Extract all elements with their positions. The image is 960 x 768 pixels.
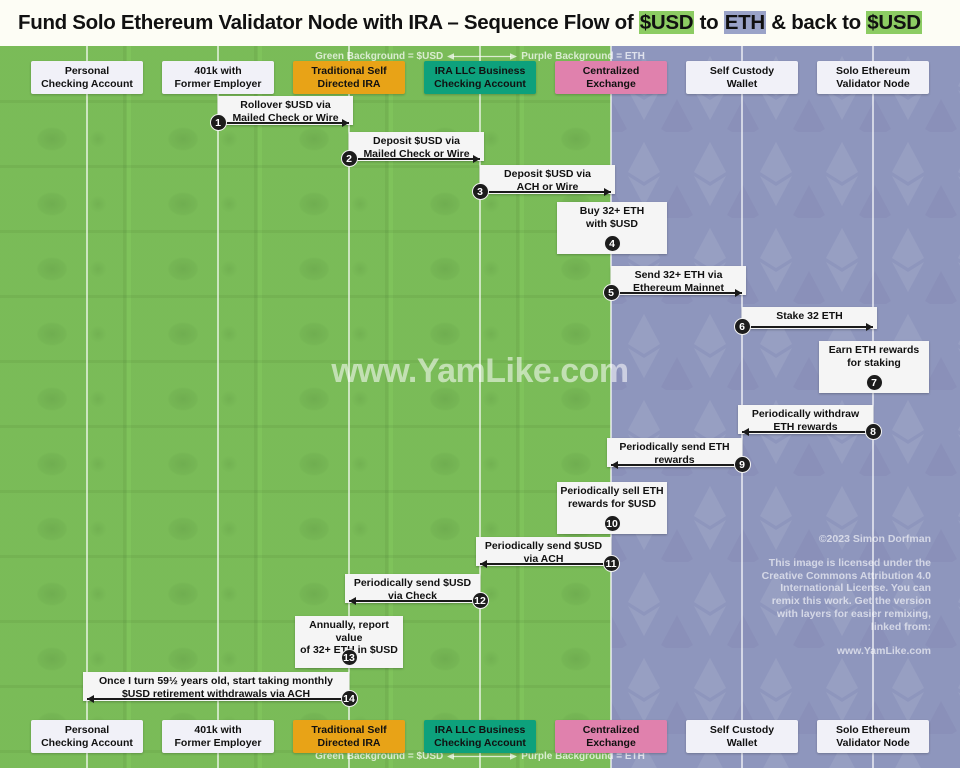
step-number-badge-10: 10: [604, 515, 621, 532]
arrow-head-3: [604, 188, 611, 196]
actor-label-line2: Directed IRA: [317, 78, 380, 90]
actor-401k-former-employer[interactable]: 401k withFormer Employer: [162, 720, 274, 753]
sequence-diagram-canvas: www.YamLike.com Green Background = $USD …: [0, 46, 960, 768]
arrow-line-14: [87, 698, 349, 700]
message-label-line1: Periodically send ETH: [607, 441, 742, 454]
message-label-line1: Annually, report value: [295, 619, 403, 644]
message-label-line1: Once I turn 59½ years old, start taking …: [83, 675, 349, 688]
step-number-badge-5: 5: [603, 284, 620, 301]
page-title: Fund Solo Ethereum Validator Node with I…: [0, 0, 960, 46]
actor-label-line1: 401k with: [194, 65, 241, 77]
actor-solo-ethereum-validator-node[interactable]: Solo EthereumValidator Node: [817, 61, 929, 94]
actor-self-custody-wallet[interactable]: Self CustodyWallet: [686, 61, 798, 94]
actor-label-line1: Self Custody: [710, 65, 774, 77]
legend-green-label-top: Green Background = $USD: [315, 51, 443, 62]
message-label-line1: Periodically send $USD: [476, 540, 611, 553]
actor-ira-llc-business-checking[interactable]: IRA LLC BusinessChecking Account: [424, 720, 536, 753]
actor-label-line1: Personal: [65, 65, 109, 77]
arrow-head-12: [349, 597, 356, 605]
copyright-text: ©2023 Simon Dorfman: [753, 533, 931, 546]
lifeline-centralized-exchange: [610, 46, 612, 768]
message-label-10: Periodically sell ETHrewards for $USD: [557, 485, 667, 510]
arrow-line-9: [611, 464, 742, 466]
actor-label-line2: Exchange: [586, 78, 636, 90]
arrow-head-8: [742, 428, 749, 436]
actor-label-line2: Checking Account: [434, 78, 526, 90]
message-label-line1: Periodically withdraw: [738, 408, 873, 421]
message-label-12: Periodically send $USDvia Check: [345, 577, 480, 602]
message-label-line2: for staking: [819, 357, 929, 370]
message-label-1: Rollover $USD viaMailed Check or Wire: [218, 99, 353, 124]
step-number-badge-12: 12: [472, 592, 489, 609]
actor-label-line2: Validator Node: [836, 78, 910, 90]
actor-label-line1: 401k with: [194, 724, 241, 736]
arrow-head-5: [735, 289, 742, 297]
actor-label-line1: Centralized: [583, 724, 640, 736]
actor-traditional-self-directed-ira[interactable]: Traditional SelfDirected IRA: [293, 61, 405, 94]
legend-purple-label-top: Purple Background = ETH: [521, 51, 645, 62]
title-mid-2: & back to: [766, 11, 866, 34]
actor-solo-ethereum-validator-node[interactable]: Solo EthereumValidator Node: [817, 720, 929, 753]
actor-ira-llc-business-checking[interactable]: IRA LLC BusinessChecking Account: [424, 61, 536, 94]
actor-label-line1: Traditional Self: [311, 65, 386, 77]
actor-personal-checking-account[interactable]: PersonalChecking Account: [31, 720, 143, 753]
message-label-11: Periodically send $USDvia ACH: [476, 540, 611, 565]
actor-self-custody-wallet[interactable]: Self CustodyWallet: [686, 720, 798, 753]
step-number-badge-7: 7: [866, 374, 883, 391]
arrow-line-6: [742, 326, 873, 328]
lifeline-personal-checking-account: [86, 46, 88, 768]
arrow-head-2: [473, 155, 480, 163]
credits-block: ©2023 Simon Dorfman This image is licens…: [753, 533, 931, 657]
actor-label-line2: Former Employer: [175, 737, 262, 749]
arrow-head-6: [866, 323, 873, 331]
actor-label-line2: Wallet: [727, 78, 758, 90]
arrow-line-12: [349, 600, 480, 602]
step-number-badge-2: 2: [341, 150, 358, 167]
title-usd-1: $USD: [639, 11, 694, 34]
actor-label-line1: IRA LLC Business: [435, 65, 526, 77]
message-label-2: Deposit $USD viaMailed Check or Wire: [349, 135, 484, 160]
arrow-head-1: [342, 119, 349, 127]
step-number-badge-6: 6: [734, 318, 751, 335]
arrow-line-8: [742, 431, 873, 433]
message-label-7: Earn ETH rewardsfor staking: [819, 344, 929, 369]
step-number-badge-11: 11: [603, 555, 620, 572]
step-number-badge-9: 9: [734, 456, 751, 473]
message-label-line1: Send 32+ ETH via: [611, 269, 746, 282]
actor-label-line1: Traditional Self: [311, 724, 386, 736]
message-label-line1: Periodically sell ETH: [557, 485, 667, 498]
arrow-line-2: [349, 158, 480, 160]
arrow-line-1: [218, 122, 349, 124]
actor-label-line1: Self Custody: [710, 724, 774, 736]
actor-label-line2: Checking Account: [434, 737, 526, 749]
actor-label-line1: Solo Ethereum: [836, 724, 910, 736]
message-label-14: Once I turn 59½ years old, start taking …: [83, 675, 349, 700]
credits-website[interactable]: www.YamLike.com: [753, 645, 931, 658]
message-label-line1: Deposit $USD via: [349, 135, 484, 148]
message-label-6: Stake 32 ETH: [742, 310, 877, 323]
actor-label-line2: Validator Node: [836, 737, 910, 749]
title-eth: ETH: [724, 11, 766, 34]
title-mid: to: [694, 11, 724, 34]
actor-personal-checking-account[interactable]: PersonalChecking Account: [31, 61, 143, 94]
actor-label-line1: Personal: [65, 724, 109, 736]
title-usd-2: $USD: [866, 11, 921, 34]
message-label-8: Periodically withdrawETH rewards: [738, 408, 873, 433]
license-text: This image is licensed under the Creativ…: [753, 557, 931, 634]
message-label-9: Periodically send ETHrewards: [607, 441, 742, 466]
message-label-line1: Rollover $USD via: [218, 99, 353, 112]
step-number-badge-1: 1: [210, 114, 227, 131]
actor-label-line2: Directed IRA: [317, 737, 380, 749]
message-label-line1: Buy 32+ ETH: [557, 205, 667, 218]
step-number-badge-4: 4: [604, 235, 621, 252]
message-label-3: Deposit $USD viaACH or Wire: [480, 168, 615, 193]
step-number-badge-3: 3: [472, 183, 489, 200]
message-label-5: Send 32+ ETH viaEthereum Mainnet: [611, 269, 746, 294]
actor-label-line1: IRA LLC Business: [435, 724, 526, 736]
legend-double-arrow-top: [447, 52, 517, 61]
arrow-head-11: [480, 560, 487, 568]
actor-centralized-exchange[interactable]: CentralizedExchange: [555, 61, 667, 94]
message-label-line1: Deposit $USD via: [480, 168, 615, 181]
actor-label-line1: Solo Ethereum: [836, 65, 910, 77]
diagram-root: Fund Solo Ethereum Validator Node with I…: [0, 0, 960, 768]
message-label-line2: rewards for $USD: [557, 498, 667, 511]
actor-401k-former-employer[interactable]: 401k withFormer Employer: [162, 61, 274, 94]
message-label-line1: Stake 32 ETH: [742, 310, 877, 323]
message-label-line1: Earn ETH rewards: [819, 344, 929, 357]
arrow-line-11: [480, 563, 611, 565]
actor-label-line2: Checking Account: [41, 737, 133, 749]
actor-label-line2: Checking Account: [41, 78, 133, 90]
arrow-head-14: [87, 695, 94, 703]
actor-label-line2: Former Employer: [175, 78, 262, 90]
actor-traditional-self-directed-ira[interactable]: Traditional SelfDirected IRA: [293, 720, 405, 753]
step-number-badge-14: 14: [341, 690, 358, 707]
step-number-badge-8: 8: [865, 423, 882, 440]
actor-centralized-exchange[interactable]: CentralizedExchange: [555, 720, 667, 753]
actor-label-line1: Centralized: [583, 65, 640, 77]
lifeline-401k-former-employer: [217, 46, 219, 768]
message-label-line2: with $USD: [557, 218, 667, 231]
actor-label-line2: Wallet: [727, 737, 758, 749]
arrow-line-3: [480, 191, 611, 193]
arrow-head-9: [611, 461, 618, 469]
actor-label-line2: Exchange: [586, 737, 636, 749]
title-pre: Fund Solo Ethereum Validator Node with I…: [18, 11, 639, 34]
message-label-4: Buy 32+ ETHwith $USD: [557, 205, 667, 230]
page-title-text: Fund Solo Ethereum Validator Node with I…: [0, 11, 922, 35]
step-number-badge-13: 13: [341, 649, 358, 666]
message-label-line1: Periodically send $USD: [345, 577, 480, 590]
arrow-line-5: [611, 292, 742, 294]
